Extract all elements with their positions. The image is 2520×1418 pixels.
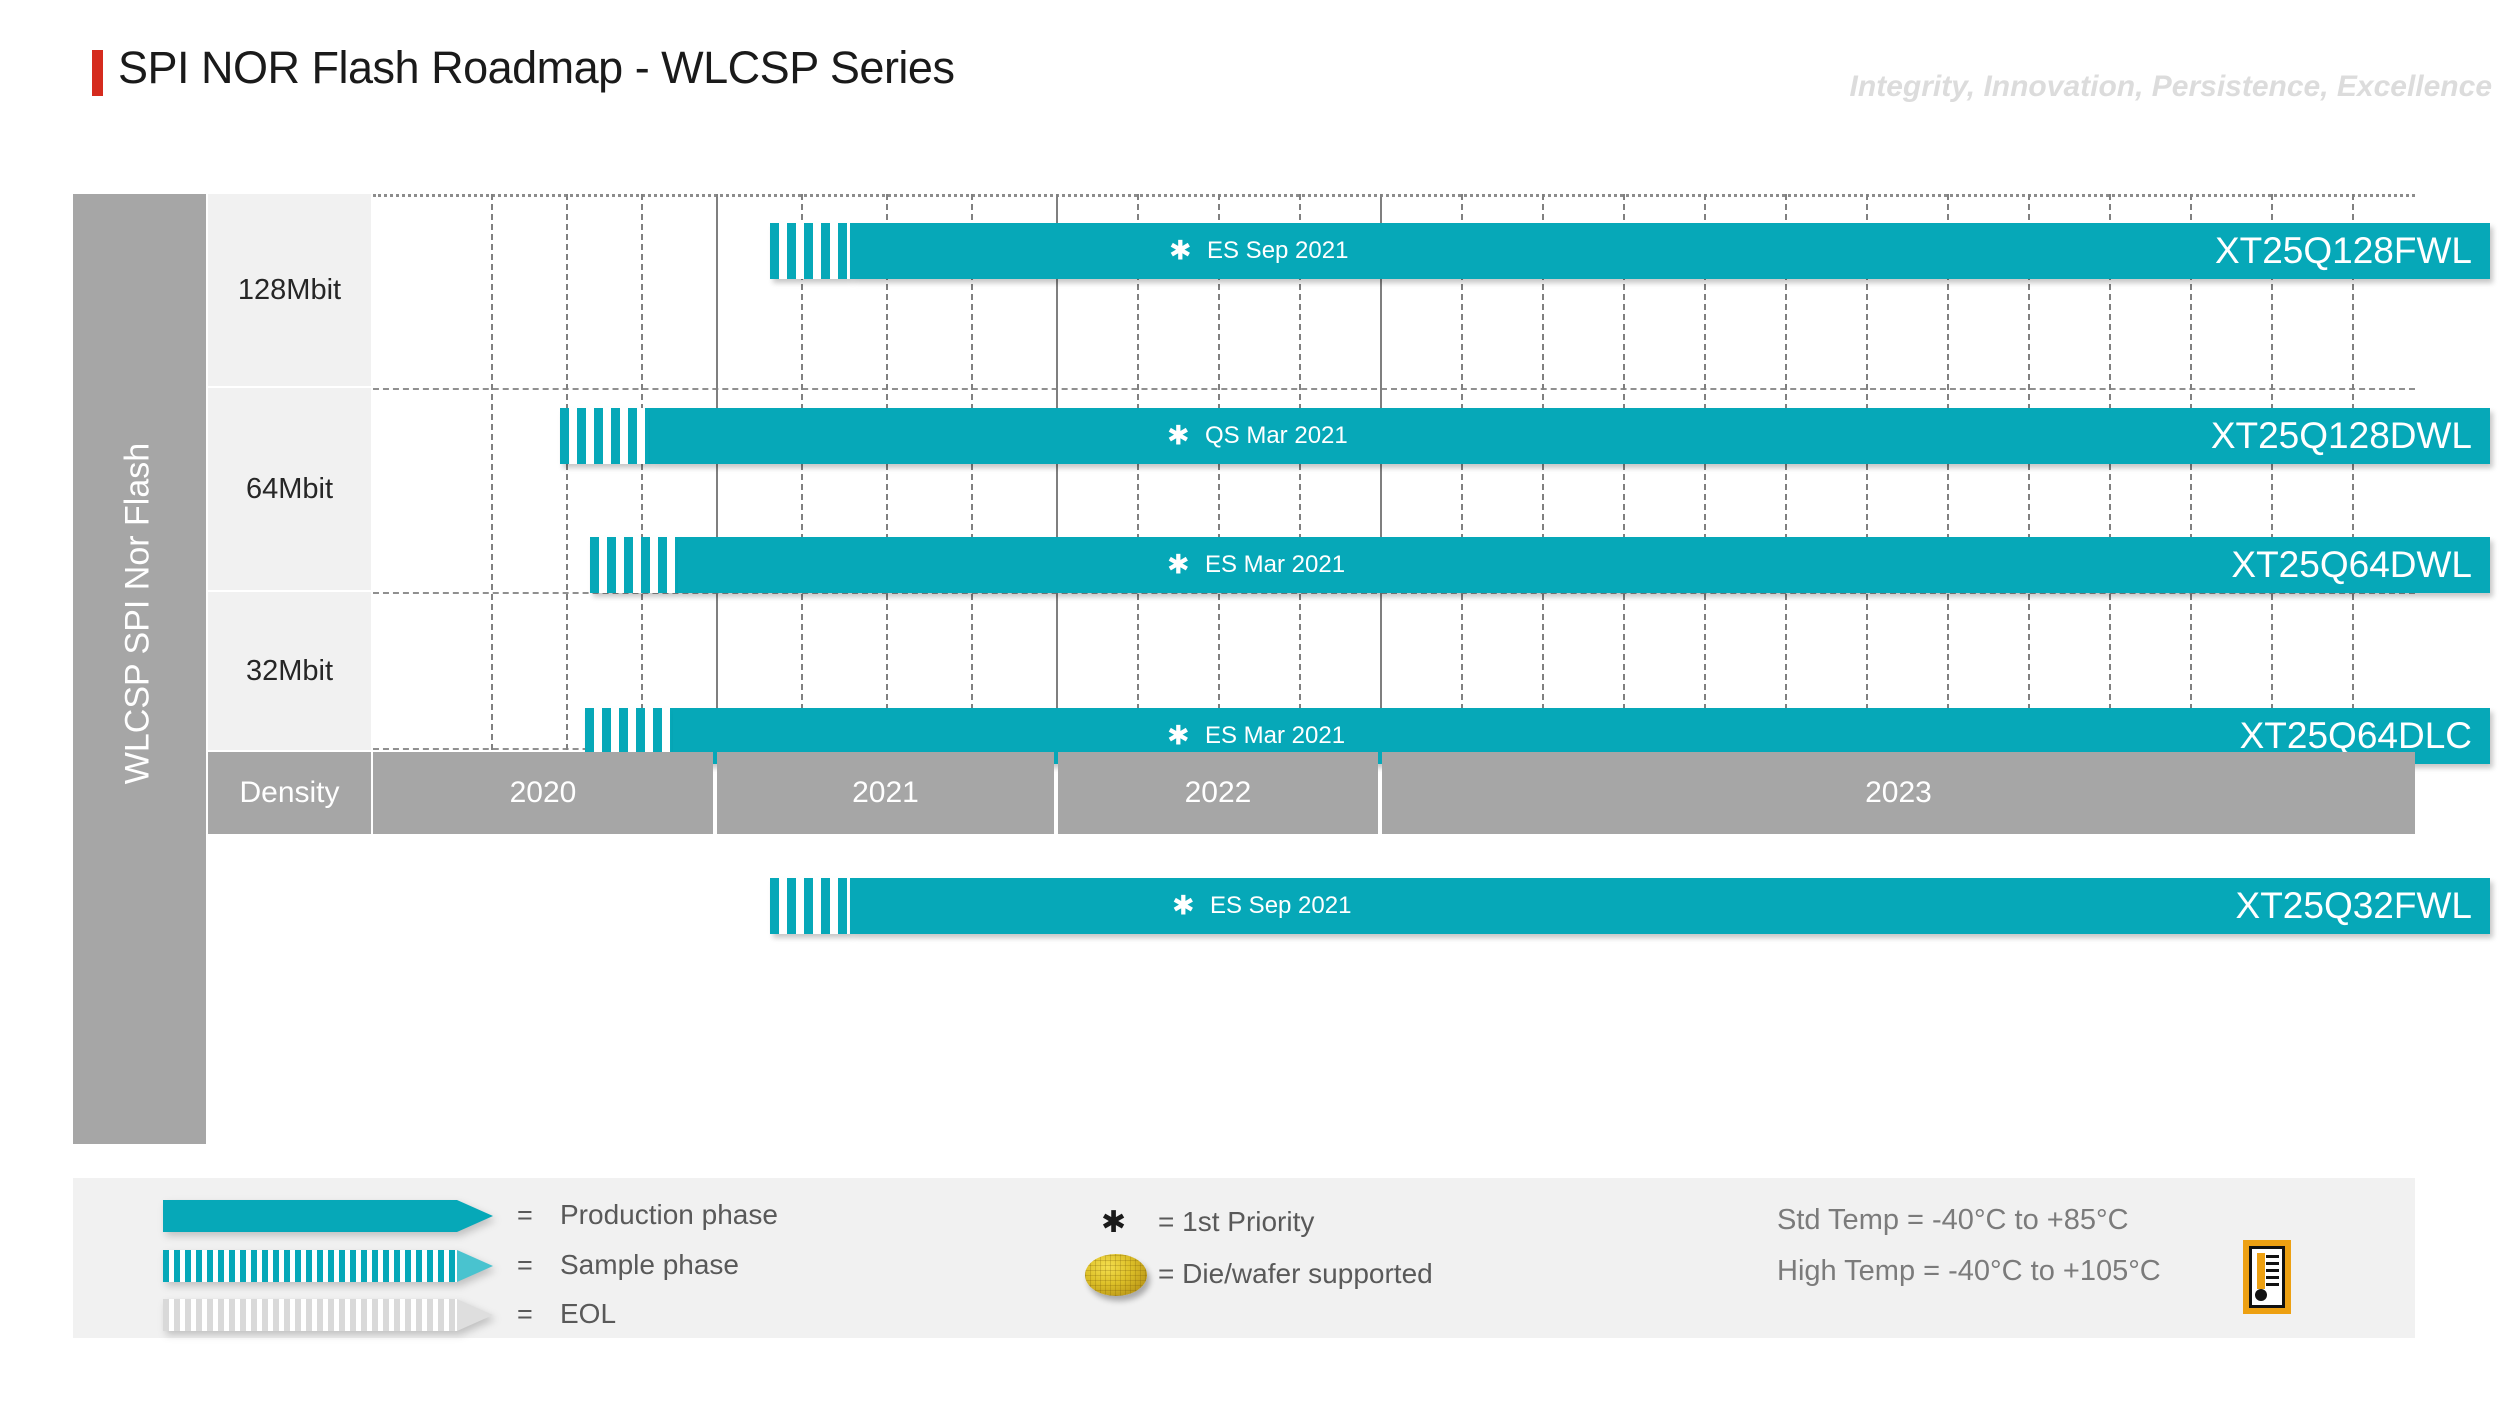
legend-star-icon: ✱ — [1101, 1205, 1126, 1240]
year-cell-2023: 2023 — [1382, 752, 2415, 834]
timeline-bar-xt25q128fwl[interactable]: ✱ ES Sep 2021 XT25Q128FWL — [770, 223, 2490, 279]
sample-phase-segment[interactable] — [770, 223, 850, 279]
year-axis: 2020 2021 2022 2023 — [373, 752, 2415, 834]
milestone-label: ES Mar 2021 — [1205, 551, 1345, 579]
year-cell-2022: 2022 — [1058, 752, 1378, 834]
page-header: SPI NOR Flash Roadmap - WLCSP Series Int… — [0, 0, 2520, 120]
legend-swatch-sample — [163, 1250, 493, 1282]
gridline-quarter — [491, 194, 493, 750]
priority-star-icon: ✱ — [1169, 238, 1192, 265]
part-number-label: XT25Q128FWL — [2215, 230, 2472, 272]
thermometer-icon — [2243, 1240, 2291, 1314]
legend-equals-sample: = — [517, 1250, 533, 1281]
legend-swatch-production — [163, 1200, 493, 1232]
part-number-label: XT25Q64DLC — [2240, 715, 2472, 757]
density-column: 128Mbit 64Mbit 32Mbit Density — [208, 194, 371, 1144]
milestone-label: ES Sep 2021 — [1207, 237, 1348, 265]
density-cell-64mbit: 64Mbit — [208, 388, 371, 590]
company-tagline: Integrity, Innovation, Persistence, Exce… — [1850, 70, 2492, 104]
legend-swatch-eol — [163, 1299, 493, 1331]
legend-label-sample: Sample phase — [560, 1249, 739, 1281]
family-rail-label: WLCSP SPI Nor Flash — [119, 204, 158, 1024]
timeline-bar-xt25q64dwl[interactable]: ✱ ES Mar 2021 XT25Q64DWL — [590, 537, 2490, 593]
gridline-year-2021 — [716, 194, 718, 750]
density-header: Density — [208, 752, 371, 834]
density-cell-32mbit: 32Mbit — [208, 592, 371, 750]
production-phase-segment[interactable]: ✱ QS Mar 2021 XT25Q128DWL — [650, 408, 2490, 464]
legend-label-eol: EOL — [560, 1298, 616, 1330]
part-number-label: XT25Q32FWL — [2236, 885, 2472, 927]
priority-star-icon: ✱ — [1167, 423, 1190, 450]
sample-phase-segment[interactable] — [590, 537, 678, 593]
milestone-label: QS Mar 2021 — [1205, 422, 1348, 450]
legend-equals-eol: = — [517, 1299, 533, 1330]
page-title: SPI NOR Flash Roadmap - WLCSP Series — [118, 42, 954, 94]
priority-star-icon: ✱ — [1172, 893, 1195, 920]
milestone-label: ES Sep 2021 — [1210, 892, 1351, 920]
density-cell-128mbit: 128Mbit — [208, 194, 371, 386]
sample-phase-segment[interactable] — [560, 408, 650, 464]
priority-star-icon: ✱ — [1167, 552, 1190, 579]
title-accent-bar — [92, 50, 103, 96]
legend-std-temp: Std Temp = -40°C to +85°C — [1777, 1204, 2129, 1237]
part-number-label: XT25Q128DWL — [2211, 415, 2472, 457]
year-cell-2021: 2021 — [717, 752, 1054, 834]
timeline-bar-xt25q32fwl[interactable]: ✱ ES Sep 2021 XT25Q32FWL — [770, 878, 2490, 934]
legend-wafer-icon — [1085, 1254, 1147, 1296]
legend-label-production: Production phase — [560, 1199, 778, 1231]
production-phase-segment[interactable]: ✱ ES Mar 2021 XT25Q64DWL — [678, 537, 2490, 593]
timeline-bar-xt25q128dwl[interactable]: ✱ QS Mar 2021 XT25Q128DWL — [560, 408, 2490, 464]
timeline-plot: ✱ ES Sep 2021 XT25Q128FWL ✱ QS Mar 2021 … — [373, 194, 2415, 750]
priority-star-icon: ✱ — [1167, 723, 1190, 750]
part-number-label: XT25Q64DWL — [2231, 544, 2472, 586]
production-phase-segment[interactable]: ✱ ES Sep 2021 XT25Q128FWL — [850, 223, 2490, 279]
gridline-quarter — [566, 194, 568, 750]
legend-panel: = Production phase = Sample phase = EOL … — [73, 1178, 2415, 1338]
production-phase-segment[interactable]: ✱ ES Sep 2021 XT25Q32FWL — [850, 878, 2490, 934]
legend-equals-production: = — [517, 1200, 533, 1231]
legend-label-priority: = 1st Priority — [1158, 1206, 1314, 1238]
roadmap-chart: WLCSP SPI Nor Flash 128Mbit 64Mbit 32Mbi… — [73, 194, 2415, 1144]
legend-high-temp: High Temp = -40°C to +105°C — [1777, 1255, 2161, 1288]
milestone-label: ES Mar 2021 — [1205, 722, 1345, 750]
year-cell-2020: 2020 — [373, 752, 713, 834]
family-rail: WLCSP SPI Nor Flash — [73, 194, 206, 1144]
sample-phase-segment[interactable] — [770, 878, 850, 934]
legend-label-die-wafer: = Die/wafer supported — [1158, 1258, 1433, 1290]
gridline-quarter — [641, 194, 643, 750]
